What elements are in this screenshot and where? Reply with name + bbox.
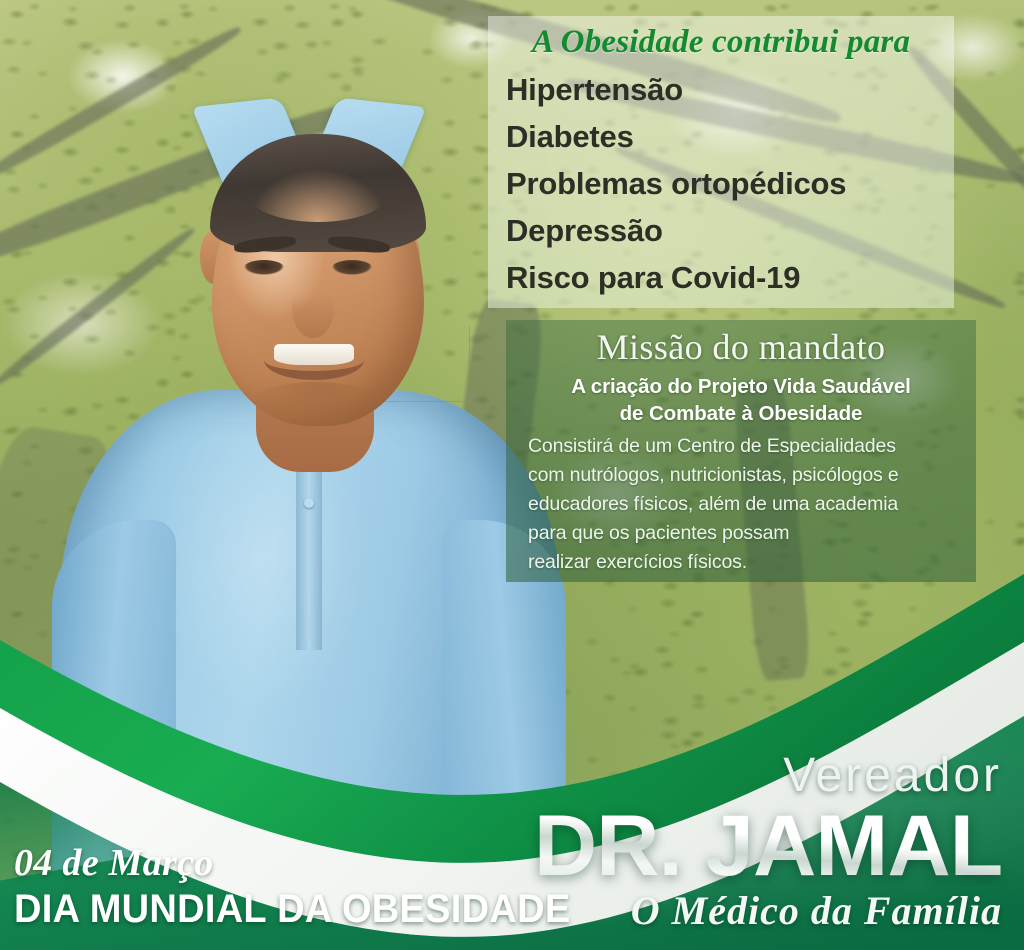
risk-item-depressao: Depressão	[506, 207, 954, 254]
mission-body-line-2: com nutrólogos, nutricionistas, psicólog…	[528, 461, 970, 490]
date-block: 04 de Março DIA MUNDIAL DA OBESIDADE	[14, 841, 614, 932]
candidate-role: Vereador	[543, 748, 1002, 804]
risk-item-covid: Risco para Covid-19	[506, 254, 954, 301]
risks-list: Hipertensão Diabetes Problemas ortopédic…	[488, 64, 954, 301]
mission-panel-title: Missão do mandato	[506, 320, 976, 368]
nose	[292, 276, 334, 338]
risk-item-diabetes: Diabetes	[506, 113, 954, 160]
event-date: 04 de Março	[14, 841, 614, 885]
event-occasion: DIA MUNDIAL DA OBESIDADE	[14, 887, 584, 932]
candidate-name-block: Vereador DR. JAMAL O Médico da Família	[543, 748, 1002, 936]
obesity-risks-panel: A Obesidade contribui para Hipertensão D…	[488, 16, 954, 308]
chin-shadow	[246, 382, 386, 430]
candidate-name: DR. JAMAL	[534, 804, 1002, 888]
poster-canvas: A Obesidade contribui para Hipertensão D…	[0, 0, 1024, 950]
risks-panel-title: A Obesidade contribui para	[488, 16, 954, 64]
eye-right	[332, 260, 372, 275]
smile	[264, 340, 364, 380]
shirt-button	[304, 498, 314, 508]
mission-subtitle-line-2: de Combate à Obesidade	[528, 400, 954, 427]
eye-left	[244, 260, 284, 275]
mission-subtitle-line-1: A criação do Projeto Vida Saudável	[528, 373, 954, 400]
mission-subtitle: A criação do Projeto Vida Saudável de Co…	[506, 368, 976, 427]
mission-body-line-3: educadores físicos, além de uma academia	[528, 490, 970, 519]
mission-body-line-1: Consistirá de um Centro de Especialidade…	[528, 432, 970, 461]
risk-item-ortopedicos: Problemas ortopédicos	[506, 160, 954, 207]
risk-item-hipertensao: Hipertensão	[506, 66, 954, 113]
